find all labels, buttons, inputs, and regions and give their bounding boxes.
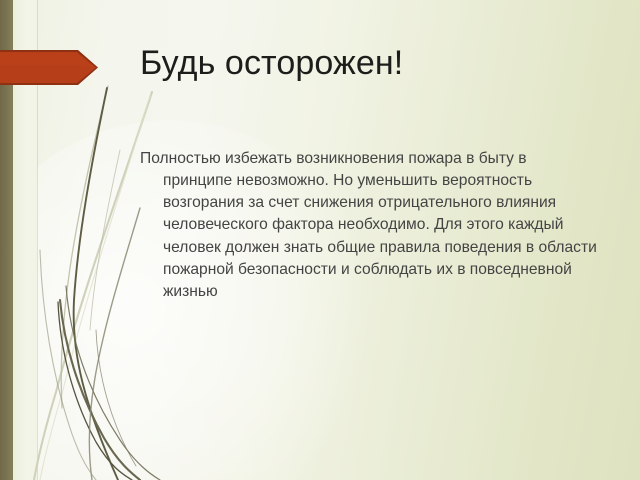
body-paragraph: Полностью избежать возникновения пожара …	[140, 148, 598, 303]
page-title: Будь осторожен!	[140, 44, 610, 83]
presentation-slide: Будь осторожен! Полностью избежать возни…	[0, 0, 640, 480]
arrow-banner-shape	[0, 50, 98, 85]
slide-body: Полностью избежать возникновения пожара …	[140, 148, 598, 303]
